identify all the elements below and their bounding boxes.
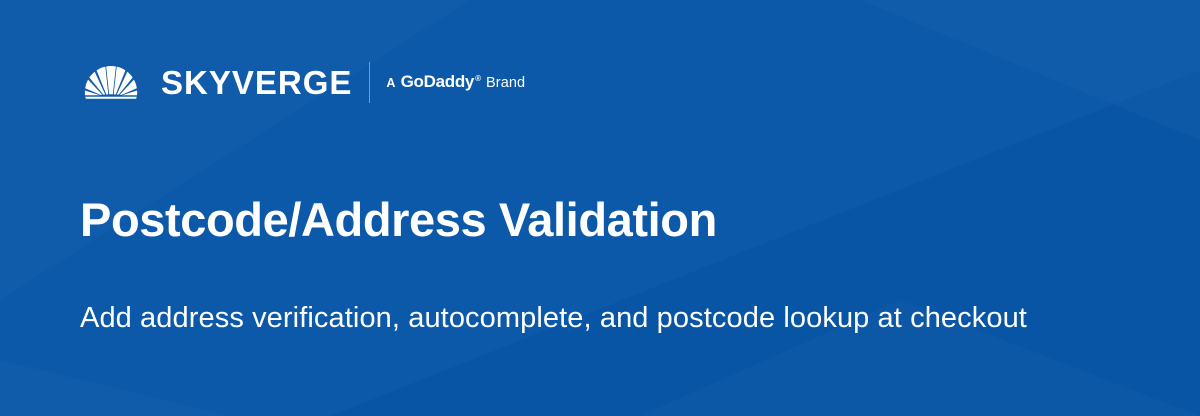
skyverge-wordmark: SKYVERGE <box>161 66 352 99</box>
page-subtitle: Add address verification, autocomplete, … <box>80 294 1040 342</box>
byline-parent-brand: GoDaddy <box>401 73 474 90</box>
skyverge-fan-logo-icon <box>80 63 142 101</box>
byline-prefix: A <box>386 77 395 90</box>
product-hero-banner: SKYVERGE A GoDaddy ® Brand Postcode/Addr… <box>0 0 1200 416</box>
registered-trademark-icon: ® <box>475 75 481 83</box>
byline-suffix: Brand <box>486 76 525 91</box>
godaddy-byline: A GoDaddy ® Brand <box>386 73 525 91</box>
brand-lockup[interactable]: SKYVERGE A GoDaddy ® Brand <box>80 60 525 104</box>
brand-divider <box>369 62 370 103</box>
page-title: Postcode/Address Validation <box>80 194 717 247</box>
